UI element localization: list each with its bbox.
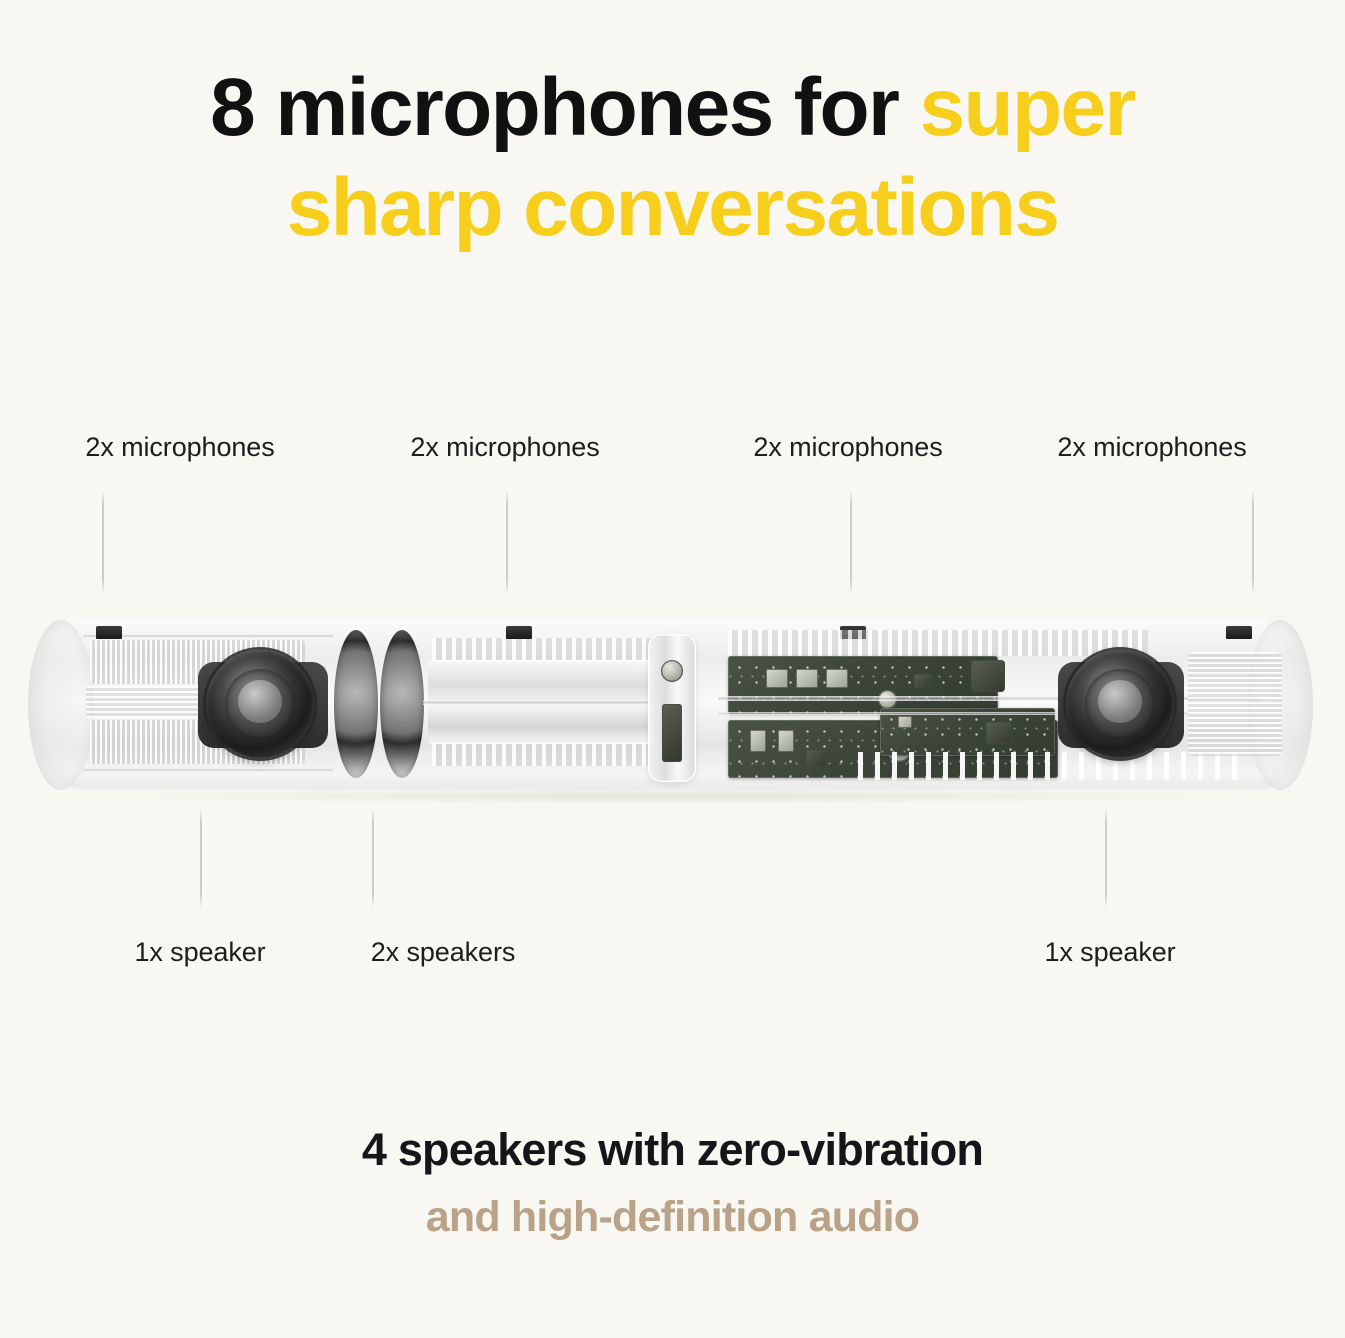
leader-line-top-4 [1252,490,1254,594]
product-xray-image [28,612,1313,798]
shell-clip-2 [506,626,532,639]
leader-line-bottom-1 [200,808,202,908]
rail-mid [423,700,668,705]
leader-line-top-1 [102,490,104,594]
callout-top-microphones-1: 2x microphones [85,432,274,463]
callout-top-microphones-2: 2x microphones [410,432,599,463]
ic-chip-upper-4 [914,674,932,688]
ic-chip-lower-1 [750,730,766,752]
grille-mid-upper [432,638,652,660]
callout-top-microphones-3: 2x microphones [753,432,942,463]
center-module-connector [662,704,682,762]
callout-bottom-speaker-1: 1x speaker [134,937,265,968]
ic-chip-upper-2 [796,669,818,688]
shield-can-antenna [971,660,1005,692]
shell-clip-4 [1226,626,1252,639]
speaker-driver-right [1066,650,1174,758]
grille-mid-lower [432,744,652,766]
leader-line-bottom-3 [1105,808,1107,908]
passive-radiator-2 [380,630,424,778]
callout-bottom-speakers-2: 2x speakers [371,937,515,968]
leader-line-top-2 [506,490,508,594]
product-shadow [98,788,1248,804]
caption-line-2: and high-definition audio [0,1193,1345,1242]
ic-chip-upper-3 [826,669,848,688]
infographic-page: 8 microphones for super sharp conversati… [0,0,1345,1338]
ic-chip-upper-1 [766,669,788,688]
page-title: 8 microphones for super sharp conversati… [0,58,1345,258]
headline-plain-text: 8 microphones for [210,62,919,153]
callout-bottom-speaker-3: 1x speaker [1044,937,1175,968]
passive-radiator-1 [334,630,378,778]
end-bracket-right [1188,652,1282,756]
headline-line1: 8 microphones for super [210,62,1135,153]
rail-left-bottom [83,768,333,772]
ic-chip-daughter-1 [898,716,912,728]
center-module-port [661,660,683,682]
ic-chip-lower-2 [778,730,794,752]
housing-end-cap-left [28,620,94,790]
caption-line-1: 4 speakers with zero-vibration [0,1124,1345,1176]
leader-line-bottom-2 [372,808,374,908]
leader-line-top-3 [850,490,852,594]
circuit-board-upper [728,656,998,714]
headline-accent-line2: sharp conversations [287,162,1059,253]
ic-chip-daughter-2 [986,722,1012,744]
headline-accent-super: super [920,62,1135,153]
circuit-board-daughter [880,708,1055,756]
speaker-driver-left [206,650,314,758]
heatsink-fins [858,752,1238,780]
callout-top-microphones-4: 2x microphones [1057,432,1246,463]
ic-chip-lower-3 [806,750,826,766]
shell-clip-1 [96,626,122,639]
grille-right-top [728,630,1148,656]
